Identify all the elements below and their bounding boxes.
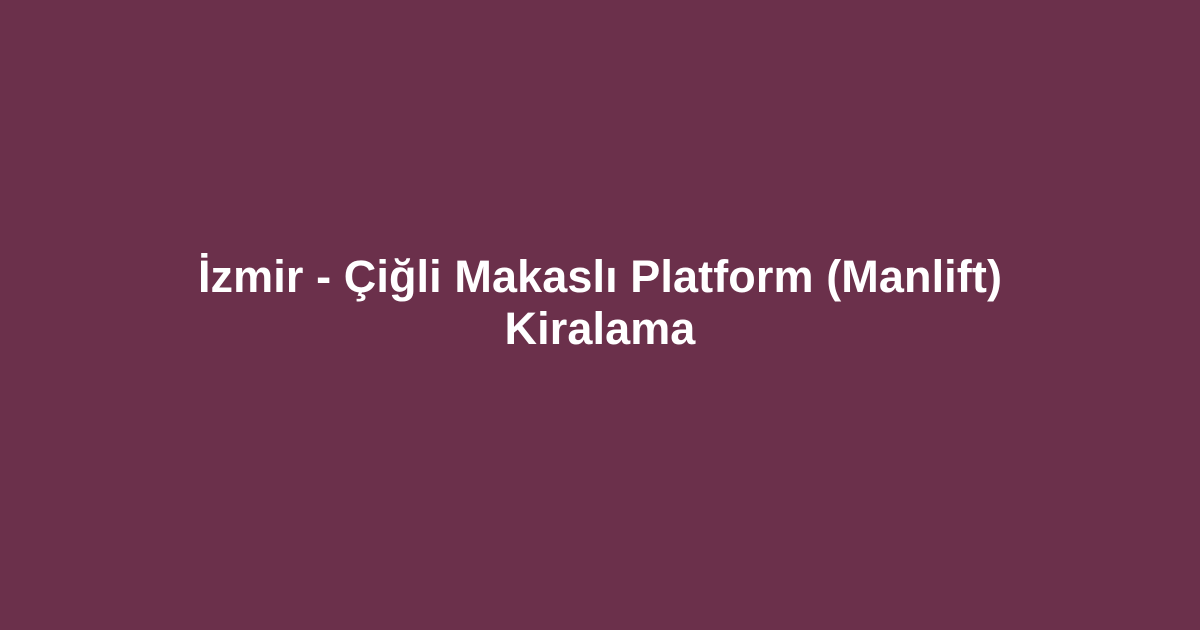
title-block: İzmir - Çiğli Makaslı Platform (Manlift)… xyxy=(0,251,1200,355)
page-title: İzmir - Çiğli Makaslı Platform (Manlift)… xyxy=(110,251,1090,355)
og-preview-card: İzmir - Çiğli Makaslı Platform (Manlift)… xyxy=(0,0,1200,630)
